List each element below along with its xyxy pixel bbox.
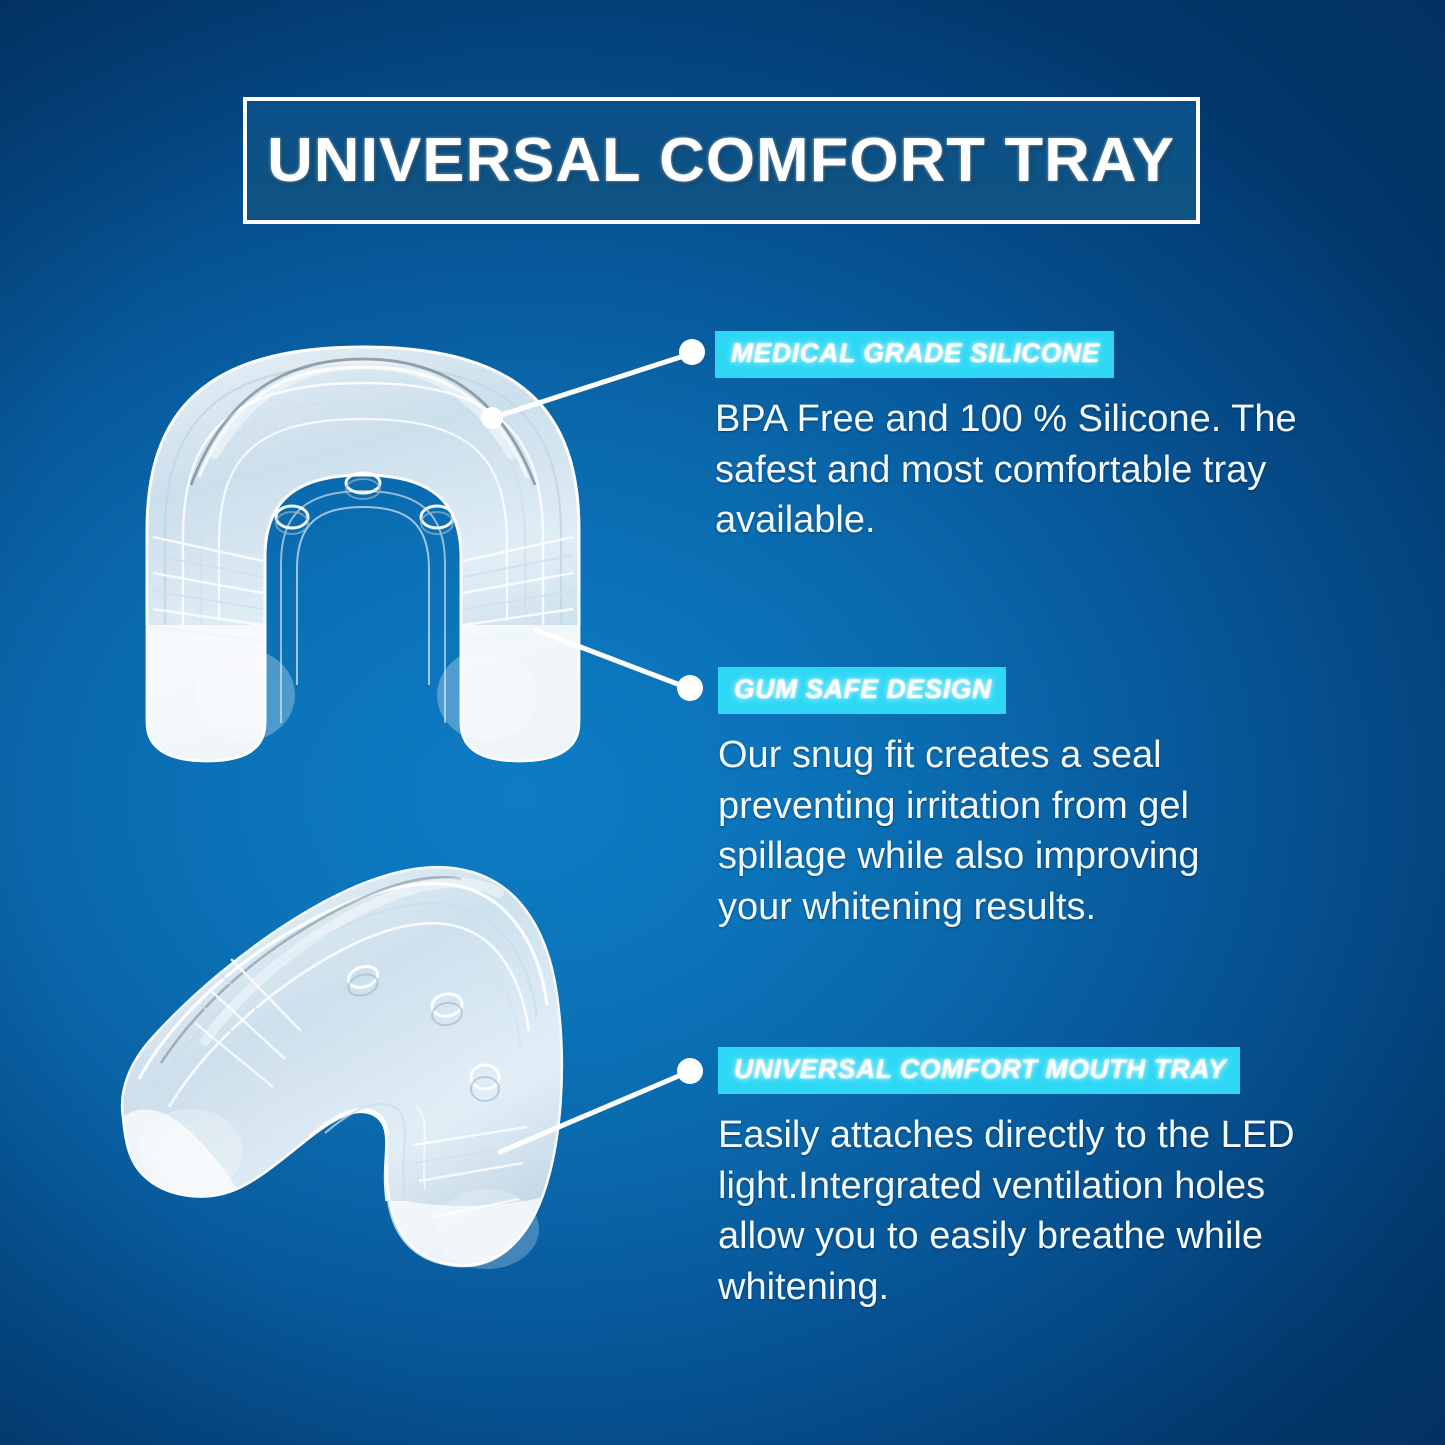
feature-block-medical-grade-silicone: MEDICAL GRADE SILICONE BPA Free and 100 … [715, 331, 1375, 546]
feature-badge-universal-comfort-mouth-tray: UNIVERSAL COMFORT MOUTH TRAY [718, 1047, 1240, 1094]
feature-body-universal-comfort-mouth-tray: Easily attaches directly to the LED ligh… [718, 1110, 1348, 1313]
infographic-canvas: UNIVERSAL COMFORT TRAY MEDICAL GRADE SIL… [0, 0, 1445, 1445]
feature-block-universal-comfort-mouth-tray: UNIVERSAL COMFORT MOUTH TRAY Easily atta… [718, 1047, 1358, 1313]
page-title-frame: UNIVERSAL COMFORT TRAY [243, 97, 1200, 224]
feature-badge-gum-safe-design: GUM SAFE DESIGN [718, 667, 1006, 714]
feature-body-gum-safe-design: Our snug fit creates a seal preventing i… [718, 730, 1278, 933]
feature-body-medical-grade-silicone: BPA Free and 100 % Silicone. The safest … [715, 394, 1355, 546]
feature-block-gum-safe-design: GUM SAFE DESIGN Our snug fit creates a s… [718, 667, 1298, 933]
feature-badge-medical-grade-silicone: MEDICAL GRADE SILICONE [715, 331, 1114, 378]
page-title: UNIVERSAL COMFORT TRAY [268, 125, 1176, 196]
